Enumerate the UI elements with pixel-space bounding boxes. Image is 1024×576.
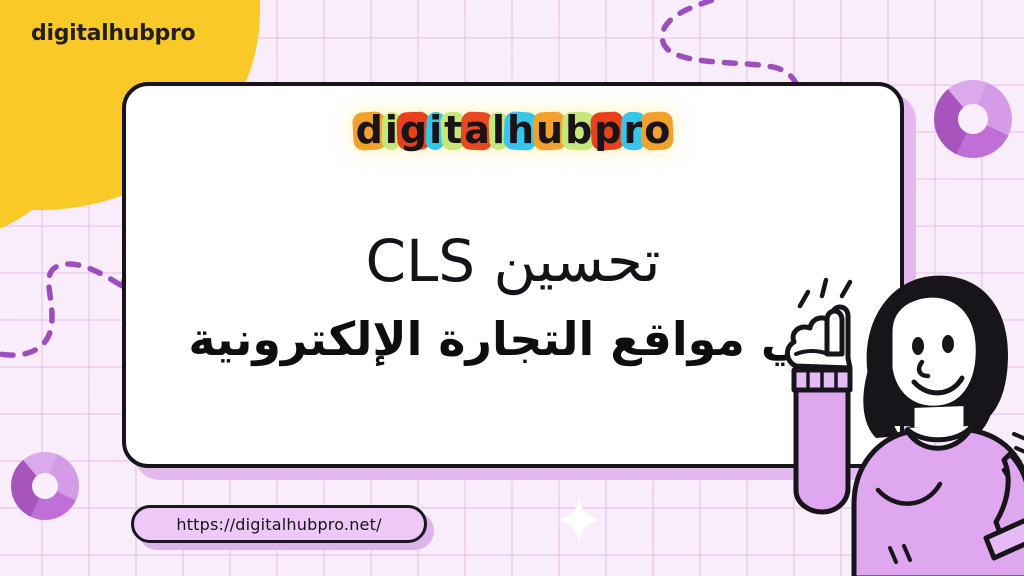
sparkle-icon [556, 497, 602, 543]
headline-line-1: تحسين CLS [158, 226, 868, 297]
logo-letter-u-8: u [534, 108, 565, 154]
logo-letter-a-5: a [462, 108, 492, 154]
woman-pointing-up-illustration [772, 258, 1024, 576]
logo-letter-h-7: h [505, 108, 536, 154]
logo-letter-t-4: t [442, 108, 464, 154]
logo-letter-o-12: o [642, 108, 672, 154]
headline-block: تحسين CLS في مواقع التجارة الإلكترونية [158, 226, 868, 368]
donut-ring-bottom-left [11, 452, 79, 520]
logo-letter-b-9: b [563, 108, 594, 154]
logo-letter-d-0: d [354, 108, 385, 154]
logo-letter-p-10: p [592, 108, 623, 154]
logo-letter-g-2: g [398, 108, 429, 154]
brand-label: digitalhubpro [31, 21, 195, 46]
poster-canvas: digitalhubpro digitalhubpro تحسين CLS في… [0, 0, 1024, 576]
donut-ring-top-right [934, 80, 1012, 158]
logo-wordmark: digitalhubpro [126, 104, 900, 158]
headline-line-2: في مواقع التجارة الإلكترونية [158, 311, 868, 369]
logo-letter-r-11: r [622, 108, 645, 154]
logo-letters: digitalhubpro [347, 104, 680, 158]
url-pill[interactable]: https://digitalhubpro.net/ [131, 505, 427, 543]
url-label: https://digitalhubpro.net/ [176, 515, 381, 534]
